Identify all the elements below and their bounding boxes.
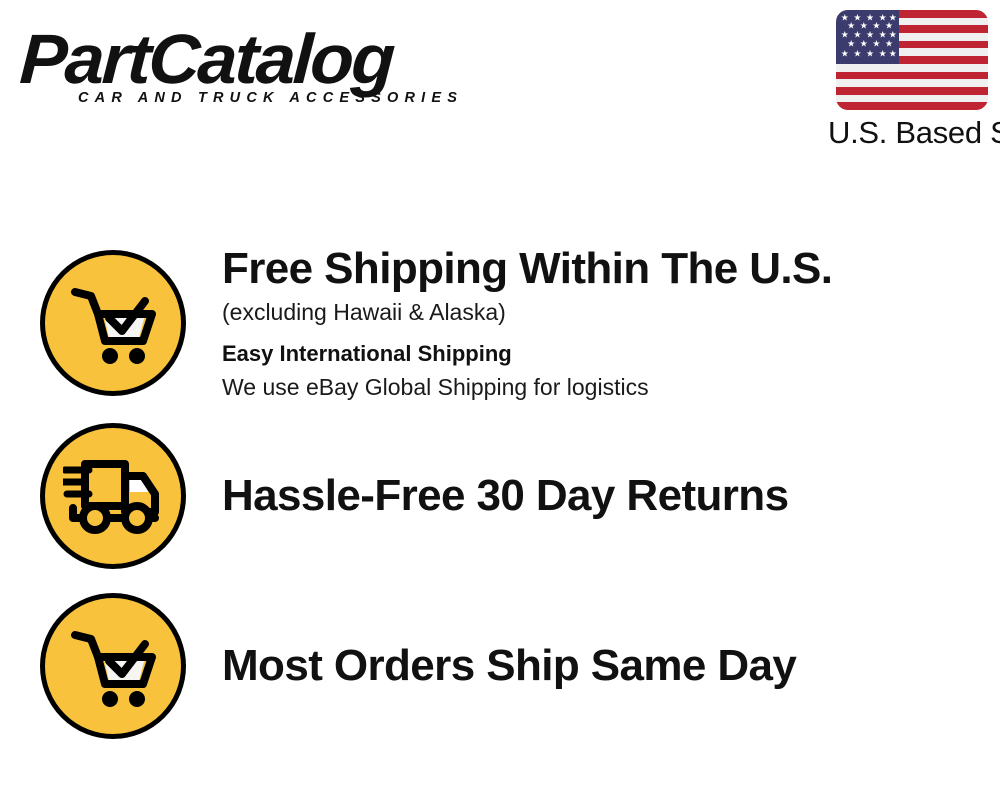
feature-row: Hassle-Free 30 Day Returns <box>0 420 1000 572</box>
cart-check-icon <box>40 593 186 739</box>
feature-subtext-note: We use eBay Global Shipping for logistic… <box>222 371 980 403</box>
feature-heading: Hassle-Free 30 Day Returns <box>222 470 980 522</box>
feature-subtext-bold: Easy International Shipping <box>222 337 980 371</box>
feature-text-block: Most Orders Ship Same Day <box>222 640 1000 692</box>
us-flag-icon: ★ ★ ★ ★ ★ ★ ★ ★ ★ ★ ★ ★ ★ ★ ★ ★ ★ ★ ★ ★ <box>836 10 988 110</box>
us-based-seller-label: U.S. Based Seller <box>828 114 988 152</box>
feature-heading: Most Orders Ship Same Day <box>222 640 980 692</box>
feature-text-block: Hassle-Free 30 Day Returns <box>222 470 1000 522</box>
feature-heading: Free Shipping Within The U.S. <box>222 243 980 295</box>
logo-wordmark: PartCatalog <box>18 22 501 96</box>
delivery-truck-icon <box>40 423 186 569</box>
feature-row: Most Orders Ship Same Day <box>0 590 1000 742</box>
feature-text-block: Free Shipping Within The U.S. (excluding… <box>222 243 1000 403</box>
flag-canton: ★ ★ ★ ★ ★ ★ ★ ★ ★ ★ ★ ★ ★ ★ ★ ★ ★ ★ ★ ★ <box>836 10 899 64</box>
us-based-seller-badge: ★ ★ ★ ★ ★ ★ ★ ★ ★ ★ ★ ★ ★ ★ ★ ★ ★ ★ ★ ★ <box>828 10 988 152</box>
brand-logo[interactable]: PartCatalog CAR AND TRUCK ACCESSORIES <box>22 22 492 122</box>
page-header: PartCatalog CAR AND TRUCK ACCESSORIES ★ … <box>0 0 1000 180</box>
feature-row: Free Shipping Within The U.S. (excluding… <box>0 238 1000 408</box>
cart-check-icon <box>40 250 186 396</box>
feature-subtext: (excluding Hawaii & Alaska) <box>222 295 980 329</box>
